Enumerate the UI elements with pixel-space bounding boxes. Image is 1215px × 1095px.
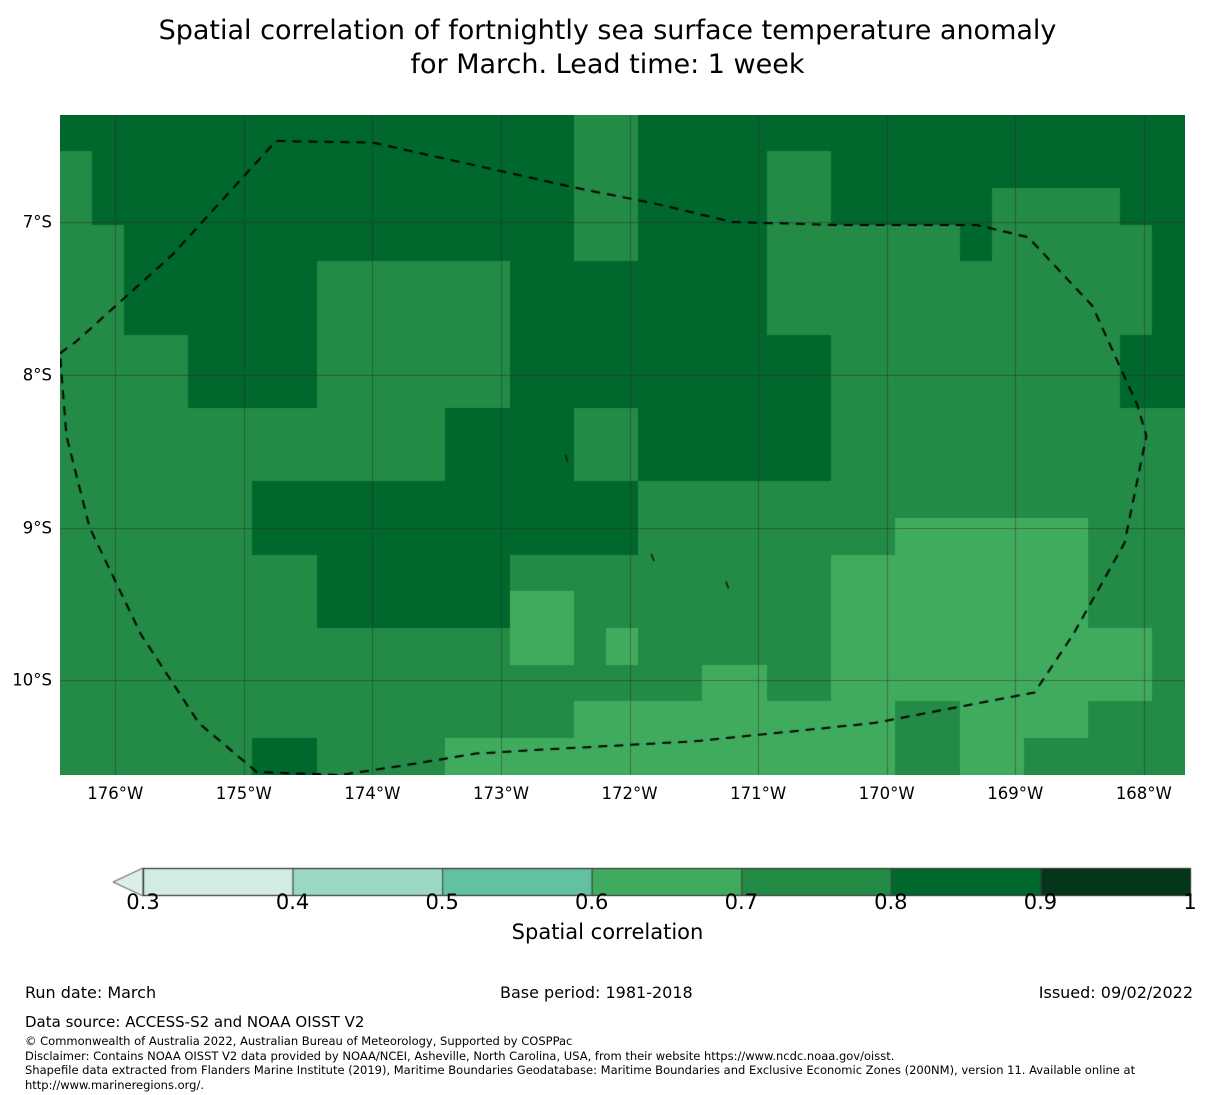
chart-title-line1: Spatial correlation of fortnightly sea s… (159, 15, 1057, 46)
disclaimer-line: http://www.marineregions.org/. (25, 1078, 1205, 1093)
colorbar-tick-label: 0.4 (276, 890, 309, 914)
disclaimer-line: © Commonwealth of Australia 2022, Austra… (25, 1034, 1205, 1049)
x-tick-label: 175°W (216, 784, 272, 803)
x-tick-label: 176°W (87, 784, 143, 803)
y-tick-label: 10°S (12, 671, 52, 690)
y-tick-label: 7°S (23, 212, 52, 231)
x-tick-label: 169°W (987, 784, 1043, 803)
x-tick-label: 171°W (730, 784, 786, 803)
run-date-text: Run date: March (25, 983, 156, 1002)
issued-date-text: Issued: 09/02/2022 (1039, 983, 1193, 1002)
colorbar-tick-label: 0.6 (575, 890, 608, 914)
x-tick-label: 170°W (859, 784, 915, 803)
chart-title: Spatial correlation of fortnightly sea s… (0, 14, 1215, 82)
data-source-text: Data source: ACCESS-S2 and NOAA OISST V2 (25, 1013, 364, 1031)
correlation-map (60, 115, 1185, 775)
disclaimer-line: Disclaimer: Contains NOAA OISST V2 data … (25, 1049, 1205, 1064)
colorbar-tick-label: 1 (1183, 890, 1196, 914)
colorbar-tick-label: 0.3 (126, 890, 159, 914)
disclaimer-text: © Commonwealth of Australia 2022, Austra… (25, 1034, 1205, 1092)
chart-title-line2: for March. Lead time: 1 week (410, 49, 804, 80)
x-tick-label: 174°W (344, 784, 400, 803)
y-tick-label: 9°S (23, 518, 52, 537)
colorbar-label: Spatial correlation (0, 920, 1215, 944)
x-tick-label: 173°W (473, 784, 529, 803)
disclaimer-line: Shapefile data extracted from Flanders M… (25, 1063, 1205, 1078)
colorbar-tick-label: 0.5 (425, 890, 458, 914)
eez-boundary-layer (60, 115, 1185, 775)
base-period-text: Base period: 1981-2018 (500, 983, 693, 1002)
y-tick-label: 8°S (23, 365, 52, 384)
x-tick-label: 168°W (1116, 784, 1172, 803)
colorbar-tick-label: 0.9 (1024, 890, 1057, 914)
x-tick-label: 172°W (602, 784, 658, 803)
metadata-row: Run date: March Base period: 1981-2018 I… (0, 983, 1215, 1005)
colorbar-tick-label: 0.7 (725, 890, 758, 914)
colorbar: 0.30.40.50.60.70.80.91 Spatial correlati… (0, 860, 1215, 960)
colorbar-tick-label: 0.8 (874, 890, 907, 914)
